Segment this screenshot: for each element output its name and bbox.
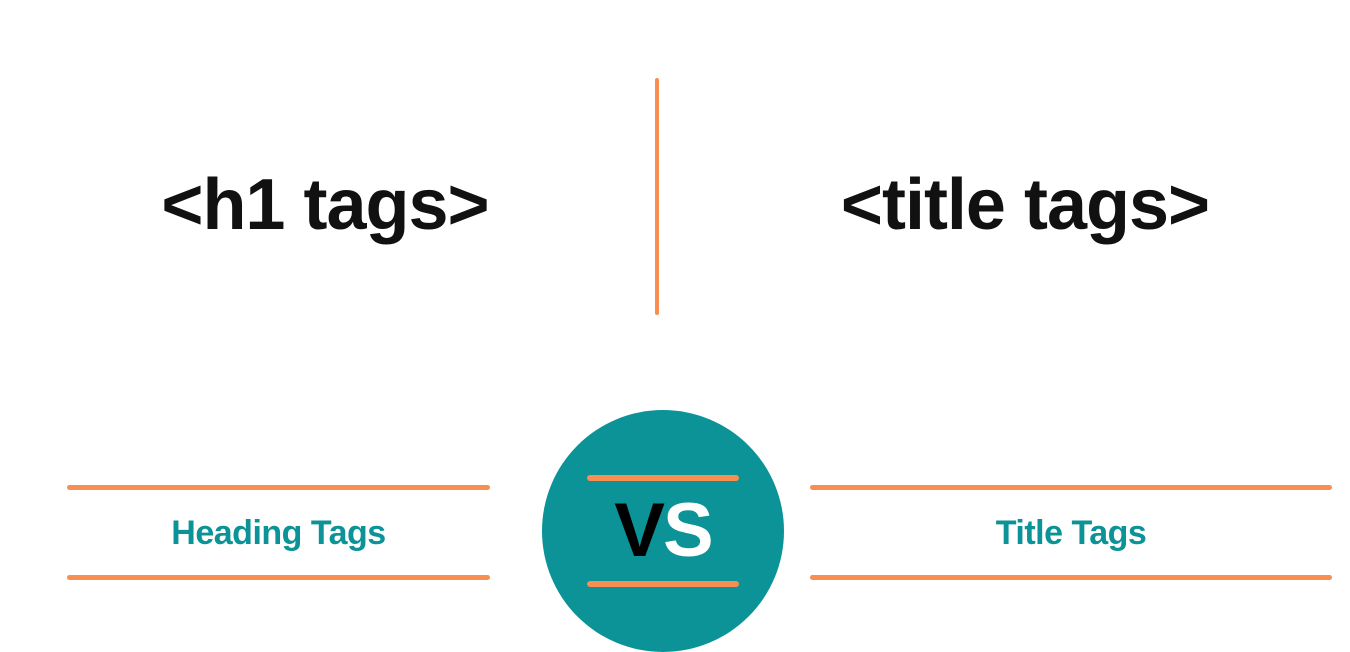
- versus-text: VS: [614, 493, 711, 569]
- tag-heading-row: <h1 tags> <title tags>: [0, 0, 1350, 390]
- versus-letter-s: S: [663, 488, 712, 573]
- versus-bar-bottom: [587, 581, 739, 587]
- versus-badge: VS: [542, 410, 784, 652]
- left-label-block: Heading Tags: [67, 485, 490, 580]
- label-row: Heading Tags VS Title Tags: [0, 400, 1350, 650]
- versus-letter-v: V: [614, 488, 663, 573]
- left-tag-heading: <h1 tags>: [0, 150, 650, 260]
- vertical-divider: [655, 78, 659, 315]
- right-label-text: Title Tags: [810, 485, 1332, 580]
- right-label-block: Title Tags: [810, 485, 1332, 580]
- comparison-graphic: <h1 tags> <title tags> Heading Tags VS T…: [0, 0, 1350, 650]
- versus-bar-top: [587, 475, 739, 481]
- left-label-rule-bottom: [67, 575, 490, 580]
- left-label-text: Heading Tags: [67, 485, 490, 580]
- right-tag-heading: <title tags>: [700, 150, 1350, 260]
- right-label-rule-bottom: [810, 575, 1332, 580]
